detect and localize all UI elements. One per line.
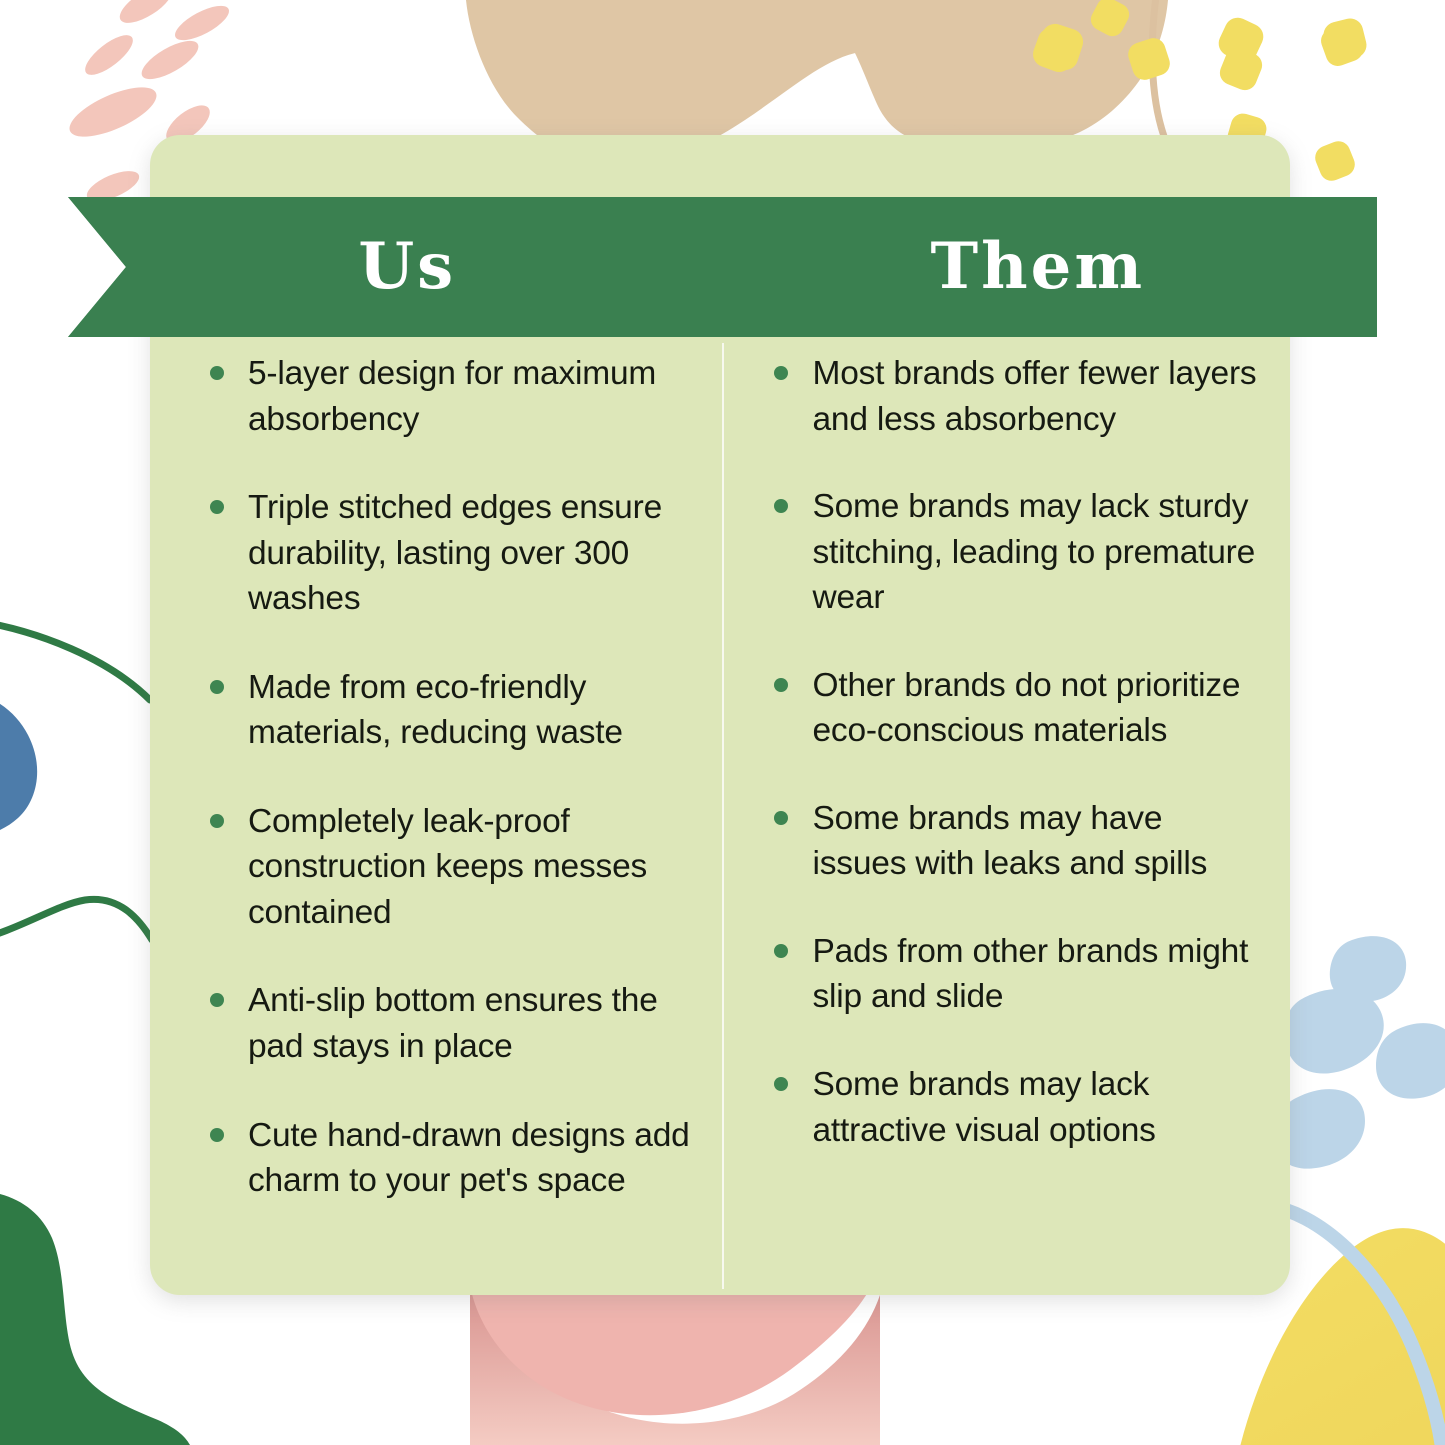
list-item-text: Most brands offer fewer layers and less … xyxy=(812,355,1256,438)
bullet-dot-icon xyxy=(774,678,788,692)
column-them: Most brands offer fewer layers and less … xyxy=(724,337,1290,1295)
list-item-text: Made from eco-friendly materials, reduci… xyxy=(248,669,623,752)
column-heading-them: Them xyxy=(723,235,1354,299)
steel-blue-blob-left xyxy=(0,688,37,841)
list-item: Made from eco-friendly materials, reduci… xyxy=(202,665,704,756)
dark-green-curve-left-lower xyxy=(0,899,152,942)
comparison-columns: 5-layer design for maximum absorbency Tr… xyxy=(150,337,1290,1295)
light-blue-blobs-right xyxy=(1274,936,1445,1169)
bullet-dot-icon xyxy=(774,1077,788,1091)
bullet-dot-icon xyxy=(210,1128,224,1142)
infographic-canvas: Us Them 5-layer design for maximum absor… xyxy=(0,0,1445,1445)
bullet-dot-icon xyxy=(774,499,788,513)
bullet-dot-icon xyxy=(774,366,788,380)
list-item: Some brands may lack sturdy stitching, l… xyxy=(766,484,1260,621)
list-item-text: Some brands may lack sturdy stitching, l… xyxy=(812,488,1255,616)
bullet-dot-icon xyxy=(210,814,224,828)
list-item-text: Anti-slip bottom ensures the pad stays i… xyxy=(248,982,658,1065)
bullet-dot-icon xyxy=(210,366,224,380)
ribbon-label-row: Us Them xyxy=(68,197,1377,337)
list-item-text: Cute hand-drawn designs add charm to you… xyxy=(248,1117,690,1200)
list-item: Some brands may have issues with leaks a… xyxy=(766,796,1260,887)
list-item: Most brands offer fewer layers and less … xyxy=(766,351,1260,442)
list-item: Some brands may lack attractive visual o… xyxy=(766,1062,1260,1153)
list-item-text: 5-layer design for maximum absorbency xyxy=(248,355,656,438)
column-heading-us: Us xyxy=(92,235,723,299)
dark-green-curve-left-upper xyxy=(0,620,150,700)
bullet-dot-icon xyxy=(774,811,788,825)
bullet-dot-icon xyxy=(774,944,788,958)
list-item: Other brands do not prioritize eco-consc… xyxy=(766,663,1260,754)
list-item-text: Some brands may have issues with leaks a… xyxy=(812,800,1207,883)
list-item: Pads from other brands might slip and sl… xyxy=(766,929,1260,1020)
list-item: Cute hand-drawn designs add charm to you… xyxy=(202,1113,704,1204)
list-item: Anti-slip bottom ensures the pad stays i… xyxy=(202,978,704,1069)
list-item-text: Completely leak-proof construction keeps… xyxy=(248,803,647,931)
bullet-dot-icon xyxy=(210,680,224,694)
bullet-dot-icon xyxy=(210,500,224,514)
column-us: 5-layer design for maximum absorbency Tr… xyxy=(150,337,722,1295)
list-item-text: Other brands do not prioritize eco-consc… xyxy=(812,667,1240,750)
list-item: 5-layer design for maximum absorbency xyxy=(202,351,704,442)
list-item: Triple stitched edges ensure durability,… xyxy=(202,485,704,622)
bullet-list-us: 5-layer design for maximum absorbency Tr… xyxy=(202,351,704,1204)
list-item: Completely leak-proof construction keeps… xyxy=(202,799,704,936)
list-item-text: Pads from other brands might slip and sl… xyxy=(812,933,1248,1016)
bullet-dot-icon xyxy=(210,993,224,1007)
bullet-list-them: Most brands offer fewer layers and less … xyxy=(766,351,1260,1153)
list-item-text: Triple stitched edges ensure durability,… xyxy=(248,489,662,617)
list-item-text: Some brands may lack attractive visual o… xyxy=(812,1066,1155,1149)
